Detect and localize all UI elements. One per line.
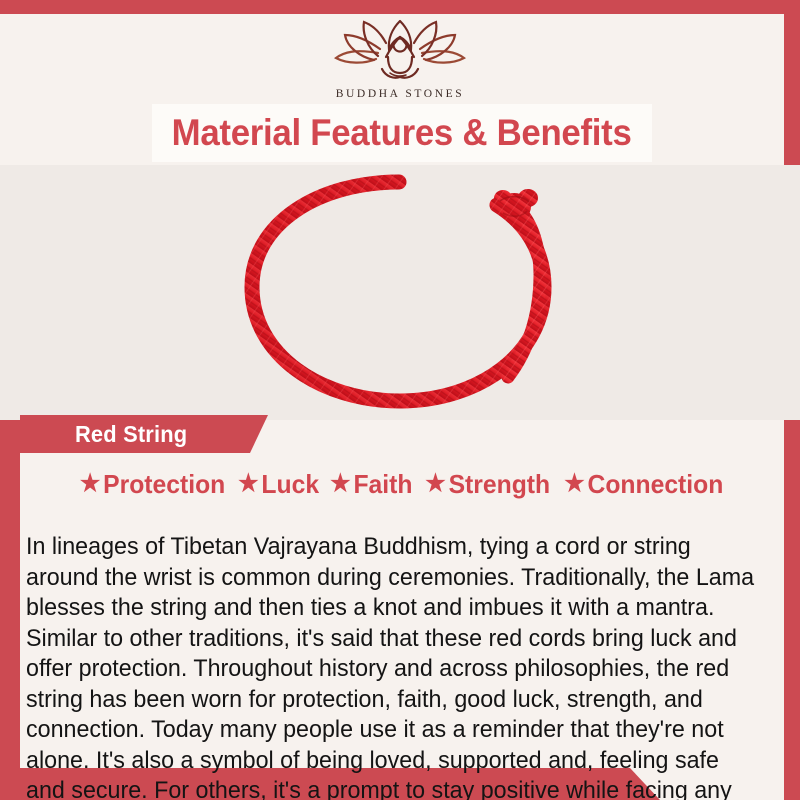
brand-logo: BUDDHA STONES bbox=[334, 19, 466, 100]
brand-name: BUDDHA STONES bbox=[336, 88, 464, 100]
material-label: Red String bbox=[75, 421, 187, 448]
page-title: Material Features & Benefits bbox=[172, 112, 632, 154]
star-icon: ★ bbox=[565, 472, 585, 496]
benefit-label: Strength bbox=[449, 469, 551, 500]
description-text: In lineages of Tibetan Vajrayana Buddhis… bbox=[26, 532, 755, 800]
brand-header: BUDDHA STONES bbox=[0, 14, 800, 105]
benefit-faith: ★ Faith bbox=[331, 469, 413, 500]
benefit-luck: ★ Luck bbox=[238, 469, 319, 500]
benefit-label: Luck bbox=[262, 469, 320, 500]
benefit-connection: ★ Connection bbox=[565, 469, 724, 500]
star-icon: ★ bbox=[238, 472, 258, 496]
star-icon: ★ bbox=[80, 472, 100, 496]
benefits-row: ★ Protection ★ Luck ★ Faith ★ Strength ★… bbox=[26, 466, 778, 502]
lotus-meditation-icon bbox=[334, 19, 466, 86]
benefit-label: Connection bbox=[588, 469, 724, 500]
star-icon: ★ bbox=[425, 472, 445, 496]
product-photo-panel bbox=[0, 165, 800, 420]
title-plate: Material Features & Benefits bbox=[152, 104, 652, 162]
star-icon: ★ bbox=[331, 472, 351, 496]
benefit-label: Faith bbox=[354, 469, 413, 500]
benefit-protection: ★ Protection bbox=[80, 469, 225, 500]
benefit-label: Protection bbox=[103, 469, 225, 500]
red-string-bracelet-photo bbox=[0, 165, 800, 420]
top-accent-bar bbox=[0, 0, 800, 14]
infographic-canvas: BUDDHA STONES Material Features & Benefi… bbox=[0, 0, 800, 800]
benefit-strength: ★ Strength bbox=[425, 469, 550, 500]
material-label-banner: Red String bbox=[20, 415, 268, 453]
